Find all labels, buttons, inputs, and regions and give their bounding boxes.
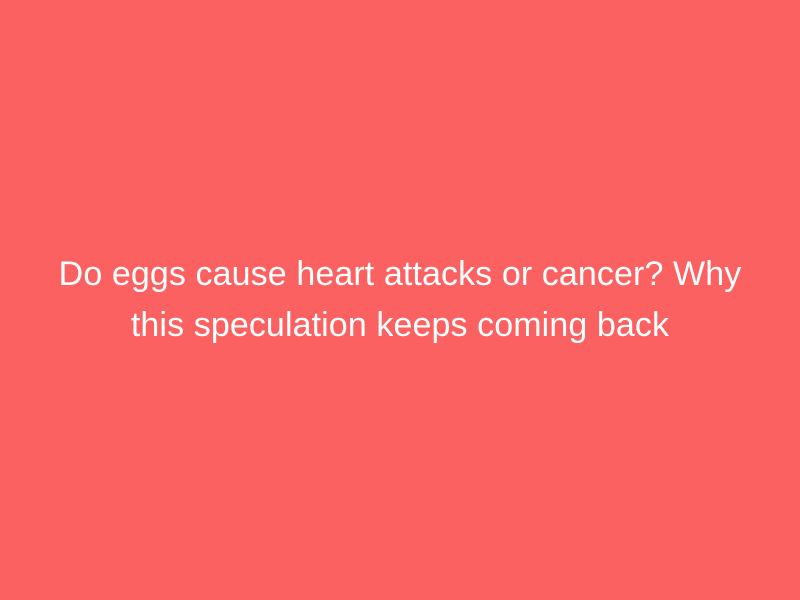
share-card: Do eggs cause heart attacks or cancer? W…: [0, 0, 800, 600]
page-title: Do eggs cause heart attacks or cancer? W…: [55, 249, 745, 351]
headline-block: Do eggs cause heart attacks or cancer? W…: [55, 249, 745, 351]
